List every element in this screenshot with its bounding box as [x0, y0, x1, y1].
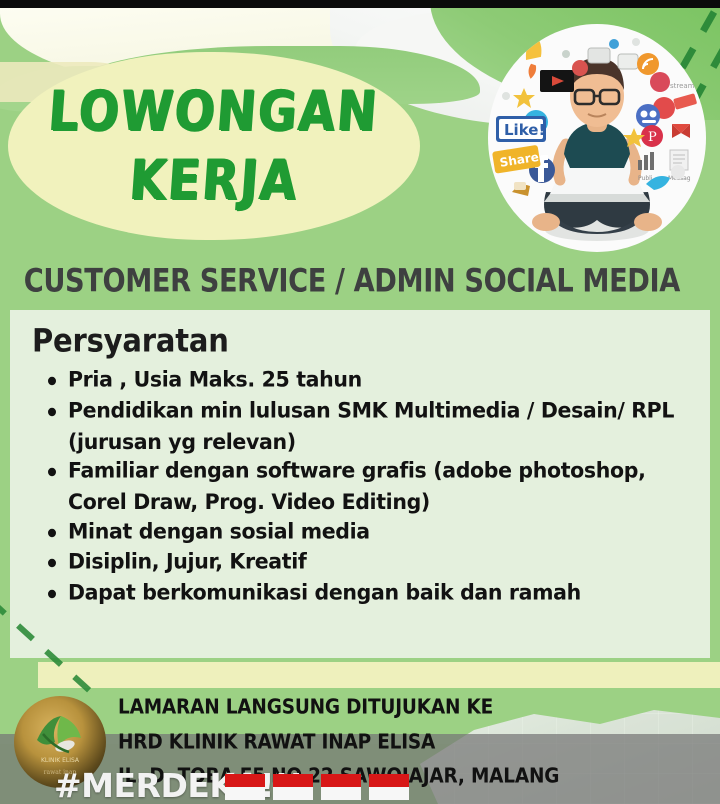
requirements-list: Pria , Usia Maks. 25 tahun Pendidikan mi…: [42, 364, 692, 607]
job-title-band: CUSTOMER SERVICE / ADMIN SOCIAL MEDIA: [0, 252, 720, 310]
indonesian-flags: [225, 774, 409, 800]
svg-text:KLINIK ELISA: KLINIK ELISA: [41, 757, 80, 764]
svg-text:Like!: Like!: [504, 121, 545, 139]
flag-icon: [369, 774, 409, 800]
man-with-laptop-icon: stream P Publi: [488, 24, 706, 252]
svg-text:stream: stream: [670, 82, 695, 90]
job-poster: LOWONGAN KERJA: [0, 0, 720, 804]
flag-icon: [321, 774, 361, 800]
flag-icon: [273, 774, 313, 800]
footer-line-2: HRD KLINIK RAWAT INAP ELISA: [118, 733, 559, 754]
top-black-bar: [0, 0, 720, 8]
hero-title-line1: LOWONGAN: [47, 84, 381, 139]
social-media-illustration: stream P Publi: [488, 24, 706, 252]
svg-text:P: P: [648, 130, 657, 145]
hero-title-line2: KERJA: [128, 153, 300, 208]
requirement-item: Familiar dengan software grafis (adobe p…: [42, 455, 692, 518]
requirements-heading: Persyaratan: [32, 322, 692, 359]
requirement-item: Disiplin, Jujur, Kreatif: [42, 546, 692, 578]
requirement-item: Pria , Usia Maks. 25 tahun: [42, 364, 692, 396]
requirement-item: Minat dengan sosial media: [42, 516, 692, 548]
hero-title-oval: LOWONGAN KERJA: [8, 52, 420, 240]
requirement-item: Pendidikan min lulusan SMK Multimedia / …: [42, 395, 692, 458]
flag-icon: [225, 774, 265, 800]
footer-line-1: LAMARAN LANGSUNG DITUJUKAN KE: [118, 698, 559, 719]
job-title: CUSTOMER SERVICE / ADMIN SOCIAL MEDIA: [0, 262, 680, 300]
